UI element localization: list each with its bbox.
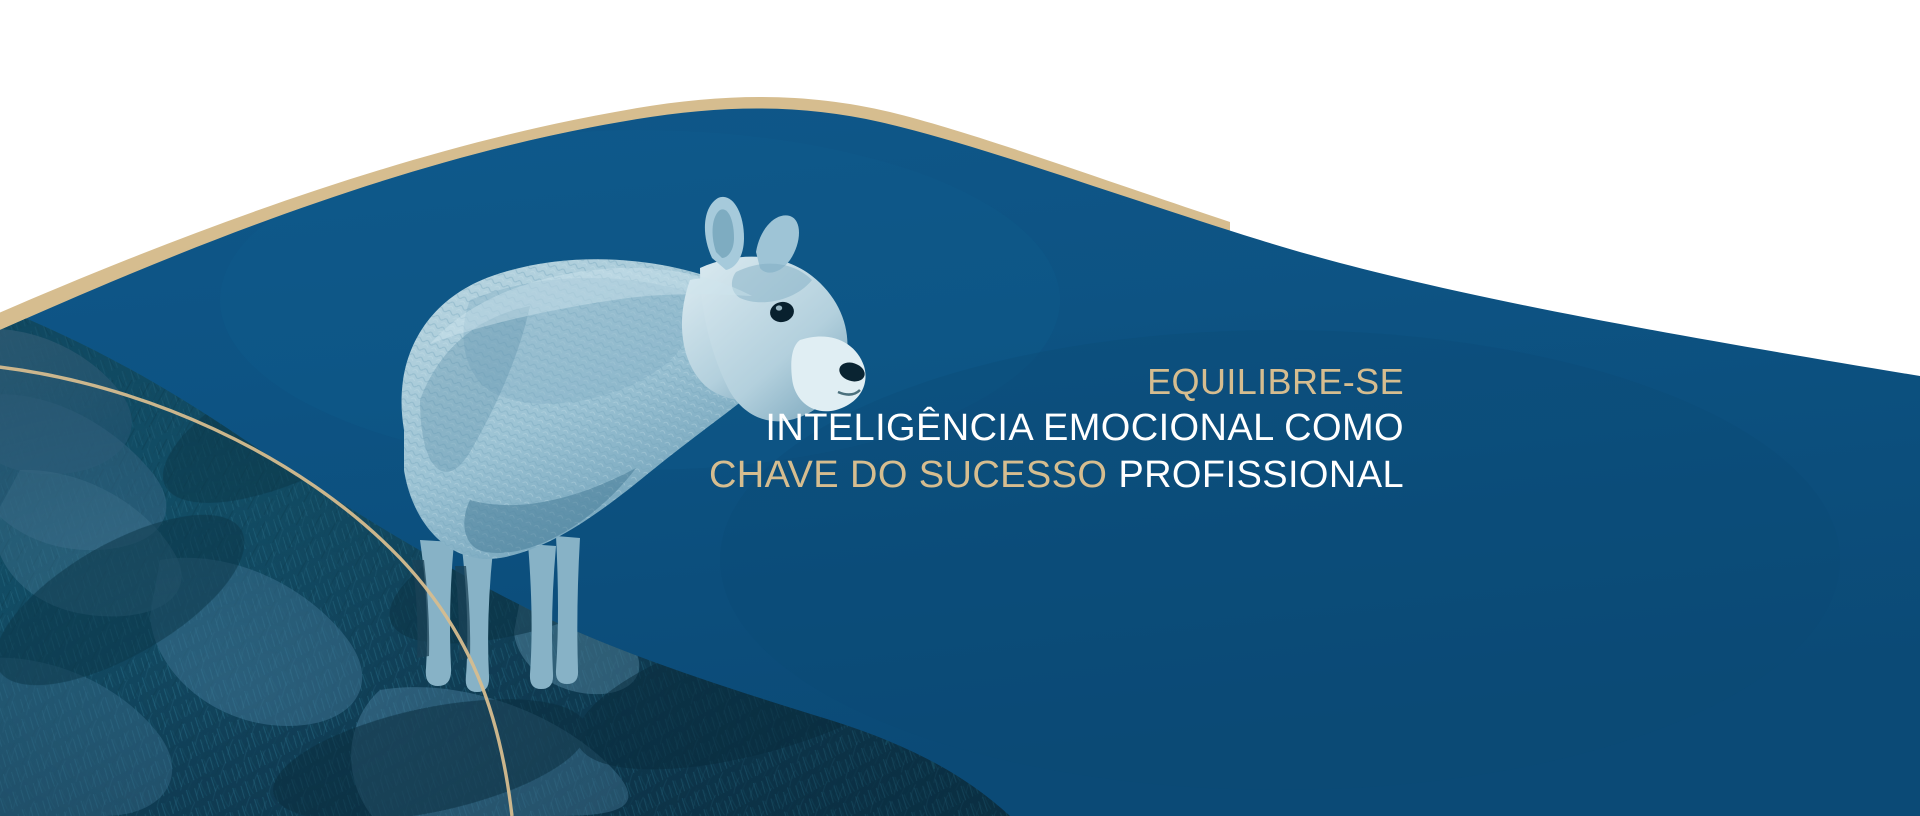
blue-panel <box>0 0 1920 816</box>
hero-banner: EQUILIBRE-SE INTELIGÊNCIA EMOCIONAL COMO… <box>0 0 1920 816</box>
hero-artwork <box>0 0 1920 816</box>
